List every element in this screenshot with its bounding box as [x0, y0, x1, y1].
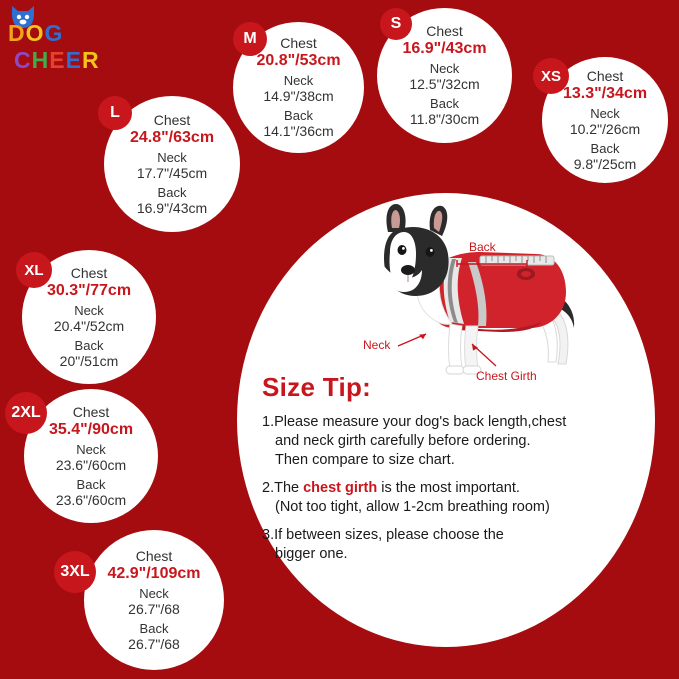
size-tip-item-1-line-1: 1.Please measure your dog's back length,… [262, 414, 566, 430]
neck-measure-arrow-icon [396, 330, 430, 357]
back-value: 16.9"/43cm [137, 200, 207, 217]
neck-label: Neck [430, 61, 460, 76]
size-tip-item-3-line-2: bigger one. [262, 545, 632, 564]
size-bubble-3xl: Chest 42.9"/109cm Neck 26.7"/68 Back 26.… [84, 530, 224, 670]
neck-value: 14.9"/38cm [263, 88, 333, 105]
brand-letter: C [14, 47, 32, 73]
size-tip-item-2-line-2: (Not too tight, allow 1-2cm breathing ro… [262, 498, 632, 517]
size-tip-title: Size Tip: [262, 372, 632, 403]
brand-logo-cheer: CHEER [14, 49, 100, 72]
size-tag-s: S [380, 8, 412, 40]
size-tag-xs: XS [533, 58, 569, 94]
brand-logo-dog: DOG [8, 22, 63, 45]
size-tag-l: L [98, 96, 132, 130]
chest-value: 35.4"/90cm [49, 420, 133, 439]
back-value: 26.7"/68 [128, 636, 180, 653]
size-tip-item-2-suffix: is the most important. [377, 480, 520, 496]
chest-label: Chest [154, 112, 191, 128]
chest-girth-arrow-icon [466, 340, 500, 375]
neck-label: Neck [139, 586, 169, 601]
brand-letter: E [49, 47, 65, 73]
chest-label: Chest [71, 265, 108, 281]
size-tip-item-1-line-2: and neck girth carefully before ordering… [262, 432, 632, 451]
back-label: Back [75, 338, 104, 353]
neck-value: 12.5"/32cm [409, 76, 479, 93]
size-tip-item-1: 1.Please measure your dog's back length,… [262, 413, 632, 470]
back-label: Back [77, 477, 106, 492]
back-value: 9.8"/25cm [574, 156, 637, 173]
chest-value: 24.8"/63cm [130, 128, 214, 147]
callout-neck: Neck [363, 338, 390, 352]
back-value: 11.8"/30cm [410, 111, 479, 128]
neck-label: Neck [74, 303, 104, 318]
neck-label: Neck [590, 106, 620, 121]
size-tag-xl: XL [16, 252, 52, 288]
brand-letter: G [45, 20, 64, 46]
back-label: Back [158, 185, 187, 200]
size-tip-item-2-prefix: 2.The [262, 480, 303, 496]
chest-value: 20.8"/53cm [256, 51, 340, 70]
chest-value: 16.9"/43cm [402, 39, 486, 58]
brand-letter: D [8, 20, 26, 46]
chest-label: Chest [426, 23, 463, 39]
size-tip-item-3-line-1: 3.If between sizes, please choose the [262, 527, 504, 543]
back-value: 23.6"/60cm [56, 492, 126, 509]
brand-letter: H [32, 47, 50, 73]
neck-value: 17.7"/45cm [137, 165, 207, 182]
size-tip-highlight-chest-girth: chest girth [303, 480, 377, 496]
back-measure-bracket-icon [456, 256, 528, 274]
chest-label: Chest [73, 404, 110, 420]
chest-value: 13.3"/34cm [563, 84, 647, 103]
neck-value: 26.7"/68 [128, 601, 180, 618]
chest-value: 30.3"/77cm [47, 281, 131, 300]
brand-letter: R [82, 47, 100, 73]
size-tip-item-1-line-3: Then compare to size chart. [262, 451, 632, 470]
brand-letter: E [66, 47, 82, 73]
neck-value: 23.6"/60cm [56, 457, 126, 474]
back-value: 20"/51cm [60, 353, 119, 370]
size-tip-item-3: 3.If between sizes, please choose the bi… [262, 526, 632, 564]
back-value: 14.1"/36cm [263, 123, 333, 140]
back-label: Back [591, 141, 620, 156]
size-tag-2xl: 2XL [5, 392, 47, 434]
neck-label: Neck [284, 73, 314, 88]
callout-back: Back [469, 240, 496, 254]
brand-logo: DOG CHEER [8, 22, 128, 84]
chest-label: Chest [136, 548, 173, 564]
size-tip-block: Size Tip: 1.Please measure your dog's ba… [262, 372, 632, 573]
brand-letter: O [26, 20, 45, 46]
neck-value: 10.2"/26cm [570, 121, 640, 138]
size-tag-m: M [233, 22, 267, 56]
back-label: Back [140, 621, 169, 636]
size-tip-item-2: 2.The chest girth is the most important.… [262, 479, 632, 517]
chest-label: Chest [280, 35, 317, 51]
chest-value: 42.9"/109cm [108, 564, 201, 583]
neck-label: Neck [76, 442, 106, 457]
size-tag-3xl: 3XL [54, 551, 96, 593]
neck-label: Neck [157, 150, 187, 165]
back-label: Back [430, 96, 459, 111]
neck-value: 20.4"/52cm [54, 318, 124, 335]
back-label: Back [284, 108, 313, 123]
chest-label: Chest [587, 68, 624, 84]
product-photo-dog-in-coat [330, 196, 600, 396]
